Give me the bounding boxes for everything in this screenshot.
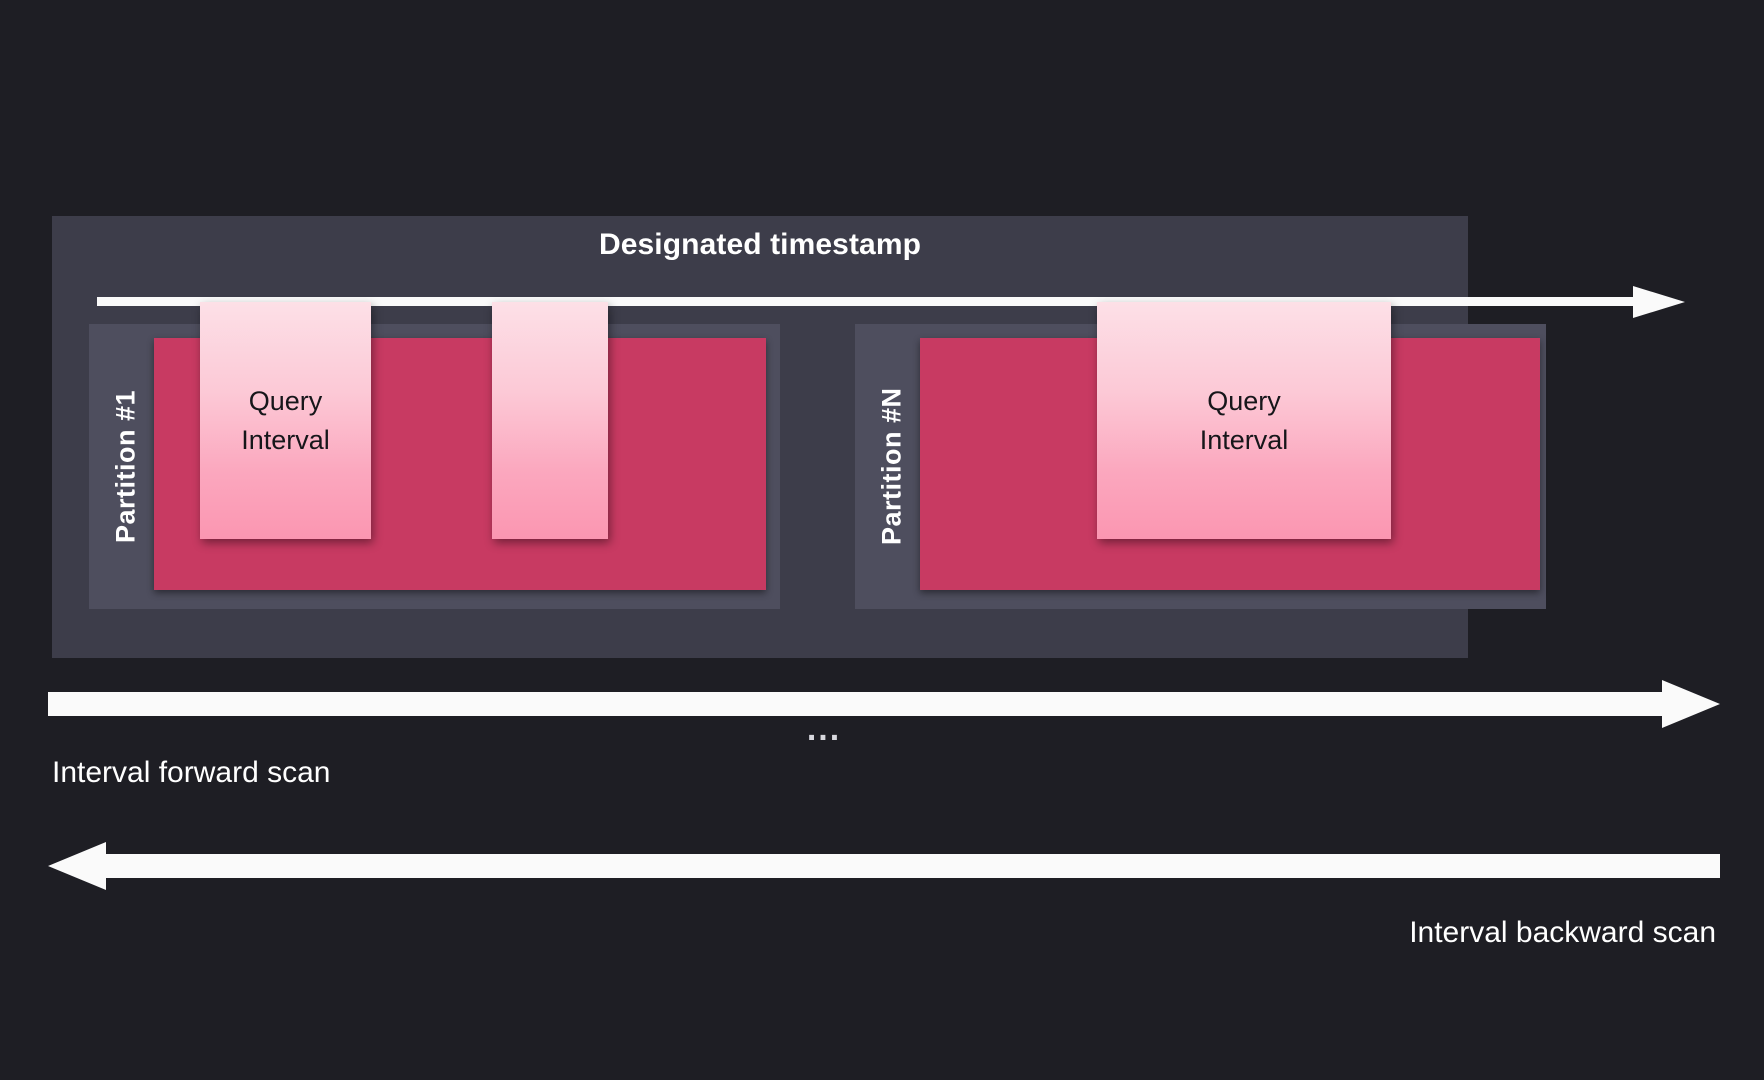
query-interval-line2: Interval [1200, 425, 1289, 455]
interval-forward-scan-arrow [48, 680, 1720, 728]
query-interval-block-partition1-a[interactable]: Query Interval [200, 302, 371, 539]
query-interval-block-partitionN[interactable]: Query Interval [1097, 302, 1391, 539]
query-interval-line2: Interval [241, 425, 330, 455]
partition-label-n: Partition #N [869, 324, 915, 609]
page-title: Designated timestamp [52, 228, 1468, 262]
partition-panel-1[interactable]: Partition #1 [89, 324, 780, 609]
partition-label-1: Partition #1 [103, 324, 149, 609]
query-interval-line1: Query [249, 386, 323, 416]
query-interval-line1: Query [1207, 386, 1281, 416]
interval-backward-scan-label: Interval backward scan [1409, 916, 1716, 950]
interval-backward-scan-arrow [44, 842, 1720, 890]
interval-forward-scan-label: Interval forward scan [52, 756, 330, 790]
right-arrow-icon [48, 680, 1720, 728]
query-interval-block-partition1-b[interactable] [492, 302, 608, 539]
left-arrow-icon [48, 842, 1720, 890]
